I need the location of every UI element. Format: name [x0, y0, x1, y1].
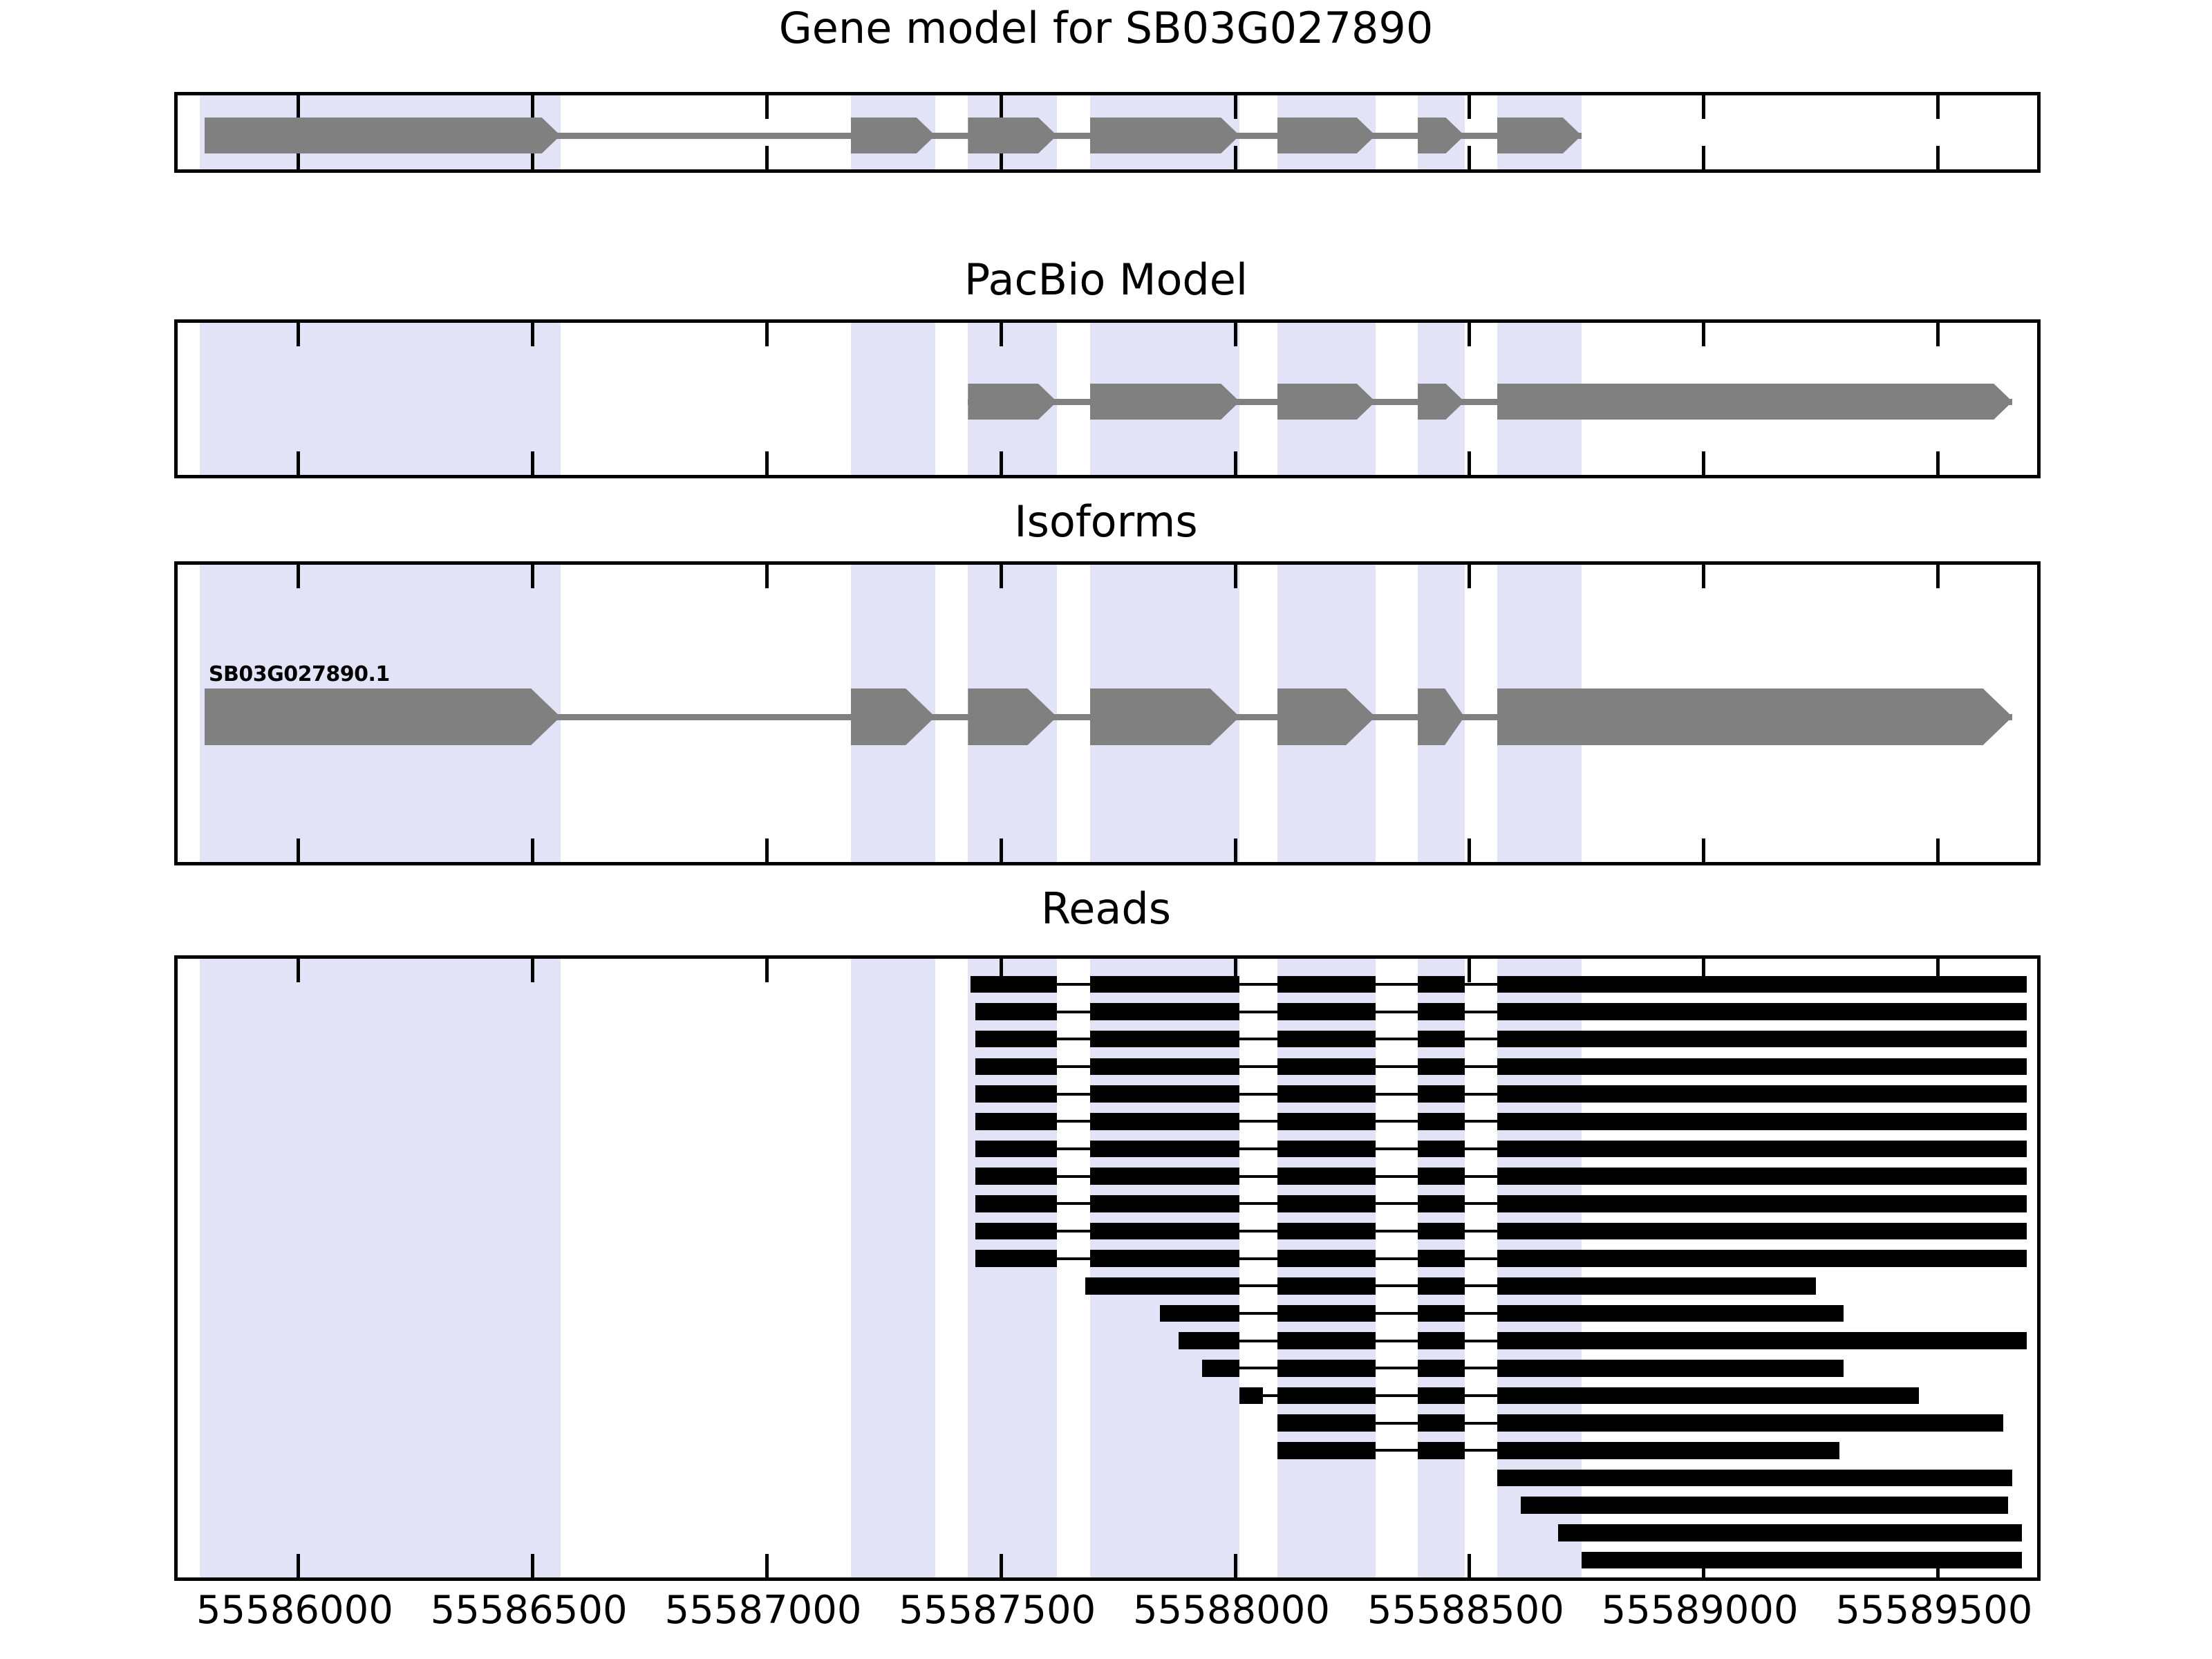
- axis-tick: [531, 838, 534, 862]
- read-exon-block: [1277, 1277, 1376, 1295]
- axis-tick: [765, 1554, 769, 1577]
- axis-tick: [1000, 95, 1003, 119]
- read-exon-block: [1090, 1031, 1240, 1048]
- read-exon-block: [1497, 1195, 2027, 1212]
- x-tick-label: 55587000: [664, 1588, 861, 1633]
- isoform-label: SB03G027890.1: [209, 662, 390, 686]
- axis-tick: [1000, 565, 1003, 588]
- read-exon-block: [1418, 1031, 1465, 1048]
- axis-tick: [1468, 1554, 1471, 1577]
- axis-tick: [1234, 565, 1237, 588]
- read-exon-block: [1497, 1470, 2012, 1487]
- read-exon-block: [975, 1250, 1058, 1267]
- axis-tick: [1234, 95, 1237, 119]
- x-tick-label: 55589500: [1835, 1588, 2032, 1633]
- exon-block: [1497, 384, 2012, 420]
- axis-tick: [1702, 451, 1705, 475]
- read-exon-block: [1202, 1360, 1239, 1377]
- axis-tick: [1000, 451, 1003, 475]
- read-exon-block: [1277, 1003, 1376, 1020]
- read-exon-block: [1090, 1250, 1240, 1267]
- axis-tick: [765, 565, 769, 588]
- read-exon-block: [1277, 1223, 1376, 1240]
- axis-tick: [1234, 1554, 1237, 1577]
- read-exon-block: [1277, 1332, 1376, 1349]
- read-exon-block: [975, 1168, 1058, 1185]
- axis-tick: [765, 451, 769, 475]
- read-exon-block: [1160, 1305, 1239, 1322]
- axis-tick: [1234, 323, 1237, 346]
- read-exon-block: [1418, 1168, 1465, 1185]
- axis-tick: [1936, 451, 1940, 475]
- read-exon-block: [1558, 1524, 2022, 1541]
- read-exon-block: [1277, 1141, 1376, 1158]
- x-tick-label: 55588000: [1133, 1588, 1330, 1633]
- read-exon-block: [1418, 1387, 1465, 1405]
- read-exon-block: [1497, 1141, 2027, 1158]
- pacbio-model-title: PacBio Model: [0, 254, 2212, 305]
- read-exon-block: [1418, 1442, 1465, 1459]
- x-tick-label: 55588500: [1367, 1588, 1564, 1633]
- axis-tick: [1702, 323, 1705, 346]
- read-exon-block: [1239, 1387, 1263, 1405]
- axis-tick: [1468, 146, 1471, 169]
- exon-block: [205, 688, 561, 745]
- panel-pacbio-model: [174, 319, 2041, 478]
- read-exon-block: [1418, 1003, 1465, 1020]
- exon-highlight-band: [851, 959, 935, 1577]
- read-exon-block: [1090, 1058, 1240, 1076]
- read-exon-block: [1497, 1277, 1816, 1295]
- read-exon-block: [1497, 1414, 2003, 1432]
- exon-highlight-band: [1090, 959, 1240, 1577]
- axis-tick: [1936, 95, 1940, 119]
- read-exon-block: [975, 1031, 1058, 1048]
- axis-tick: [297, 95, 300, 119]
- axis-tick: [1000, 838, 1003, 862]
- read-exon-block: [975, 1113, 1058, 1130]
- axis-tick: [1000, 323, 1003, 346]
- axis-tick: [765, 95, 769, 119]
- exon-block: [1090, 688, 1240, 745]
- read-exon-block: [1497, 1332, 2027, 1349]
- read-exon-block: [1277, 1305, 1376, 1322]
- exon-block: [968, 384, 1057, 420]
- x-tick-label: 55586500: [431, 1588, 628, 1633]
- read-exon-block: [975, 1003, 1058, 1020]
- axis-tick: [1936, 838, 1940, 862]
- read-exon-block: [1497, 976, 2027, 993]
- read-exon-block: [1418, 1360, 1465, 1377]
- read-exon-block: [1418, 1058, 1465, 1076]
- axis-tick: [531, 95, 534, 119]
- axis-tick: [531, 959, 534, 982]
- read-exon-block: [1090, 1113, 1240, 1130]
- read-exon-block: [1277, 1031, 1376, 1048]
- read-exon-block: [1277, 1250, 1376, 1267]
- read-exon-block: [1090, 1168, 1240, 1185]
- read-exon-block: [971, 976, 1057, 993]
- isoforms-title: Isoforms: [0, 496, 2212, 547]
- read-exon-block: [1277, 1442, 1376, 1459]
- read-exon-block: [1277, 1387, 1376, 1405]
- axis-tick: [1702, 838, 1705, 862]
- axis-tick: [1702, 565, 1705, 588]
- read-exon-block: [1418, 1305, 1465, 1322]
- read-exon-block: [1090, 1195, 1240, 1212]
- read-exon-block: [975, 1223, 1058, 1240]
- axis-tick: [297, 1554, 300, 1577]
- read-exon-block: [1090, 1141, 1240, 1158]
- exon-highlight-band: [1277, 959, 1376, 1577]
- exon-block: [1277, 384, 1376, 420]
- axis-tick: [1702, 146, 1705, 169]
- read-exon-block: [1277, 1195, 1376, 1212]
- exon-highlight-band: [200, 323, 561, 475]
- read-exon-block: [1418, 1223, 1465, 1240]
- axis-tick: [1468, 959, 1471, 982]
- exon-block: [1090, 118, 1240, 153]
- read-exon-block: [1418, 1250, 1465, 1267]
- axis-tick: [1468, 451, 1471, 475]
- axis-tick: [297, 565, 300, 588]
- read-exon-block: [1497, 1168, 2027, 1185]
- read-exon-block: [1497, 1223, 2027, 1240]
- read-exon-block: [1497, 1058, 2027, 1076]
- axis-tick: [765, 146, 769, 169]
- read-exon-block: [1418, 1277, 1465, 1295]
- read-exon-block: [1418, 1414, 1465, 1432]
- axis-tick: [531, 1554, 534, 1577]
- axis-tick: [297, 838, 300, 862]
- read-exon-block: [1497, 1360, 1844, 1377]
- exon-block: [1277, 118, 1376, 153]
- x-tick-label: 55586000: [196, 1588, 393, 1633]
- exon-block: [205, 118, 561, 153]
- read-exon-block: [1179, 1332, 1239, 1349]
- axis-tick: [297, 323, 300, 346]
- read-exon-block: [1418, 1332, 1465, 1349]
- axis-tick: [1468, 565, 1471, 588]
- axis-tick: [1468, 95, 1471, 119]
- read-exon-block: [1497, 1250, 2027, 1267]
- read-exon-block: [1521, 1497, 2008, 1514]
- read-exon-block: [1277, 1414, 1376, 1432]
- exon-highlight-band: [1418, 959, 1465, 1577]
- axis-tick: [1468, 323, 1471, 346]
- read-exon-block: [1090, 1003, 1240, 1020]
- read-exon-block: [975, 1085, 1058, 1103]
- read-exon-block: [975, 1058, 1058, 1076]
- read-exon-block: [1090, 1085, 1240, 1103]
- axis-tick: [1936, 323, 1940, 346]
- read-exon-block: [1418, 1113, 1465, 1130]
- axis-tick: [765, 959, 769, 982]
- panel-gene-model: [174, 92, 2041, 173]
- read-exon-block: [1277, 976, 1376, 993]
- axis-tick: [1468, 838, 1471, 862]
- read-exon-block: [1497, 1031, 2027, 1048]
- exon-highlight-band: [200, 959, 561, 1577]
- exon-block: [1090, 384, 1240, 420]
- read-exon-block: [1090, 1223, 1240, 1240]
- read-exon-block: [1418, 976, 1465, 993]
- axis-tick: [1936, 146, 1940, 169]
- read-exon-block: [1418, 1195, 1465, 1212]
- gene-model-figure: Gene model for SB03G027890 PacBio Model …: [0, 0, 2212, 1659]
- read-exon-block: [1497, 1442, 1839, 1459]
- exon-highlight-band: [851, 323, 935, 475]
- exon-block: [1497, 688, 2012, 745]
- axis-tick: [297, 959, 300, 982]
- axis-tick: [531, 565, 534, 588]
- read-exon-block: [1582, 1552, 2022, 1569]
- exon-block: [968, 118, 1057, 153]
- read-exon-block: [1497, 1113, 2027, 1130]
- read-exon-block: [1277, 1058, 1376, 1076]
- axis-tick: [1936, 565, 1940, 588]
- axis-tick: [1234, 146, 1237, 169]
- axis-tick: [765, 323, 769, 346]
- axis-tick: [1000, 1554, 1003, 1577]
- read-exon-block: [1497, 1003, 2027, 1020]
- axis-tick: [1234, 451, 1237, 475]
- page-title: Gene model for SB03G027890: [0, 3, 2212, 53]
- exon-highlight-band: [968, 959, 1057, 1577]
- axis-tick: [1702, 95, 1705, 119]
- read-exon-block: [1277, 1168, 1376, 1185]
- x-axis-tick-labels: 5558600055586500555870005558750055588000…: [0, 1588, 2212, 1650]
- read-exon-block: [1418, 1141, 1465, 1158]
- read-exon-block: [1277, 1085, 1376, 1103]
- axis-tick: [531, 323, 534, 346]
- read-exon-block: [1277, 1113, 1376, 1130]
- read-exon-block: [1497, 1387, 1919, 1405]
- read-exon-block: [1090, 976, 1240, 993]
- x-tick-label: 55589000: [1602, 1588, 1799, 1633]
- read-exon-block: [1418, 1085, 1465, 1103]
- axis-tick: [765, 838, 769, 862]
- axis-tick: [531, 451, 534, 475]
- axis-tick: [1234, 838, 1237, 862]
- x-tick-label: 55587500: [899, 1588, 1096, 1633]
- read-exon-block: [1497, 1085, 2027, 1103]
- panel-reads: [174, 955, 2041, 1581]
- axis-tick: [297, 451, 300, 475]
- read-exon-block: [975, 1195, 1058, 1212]
- reads-title: Reads: [0, 883, 2212, 934]
- read-exon-block: [975, 1141, 1058, 1158]
- panel-isoforms: SB03G027890.1: [174, 561, 2041, 865]
- read-exon-block: [1085, 1277, 1240, 1295]
- read-exon-block: [1277, 1360, 1376, 1377]
- read-exon-block: [1497, 1305, 1844, 1322]
